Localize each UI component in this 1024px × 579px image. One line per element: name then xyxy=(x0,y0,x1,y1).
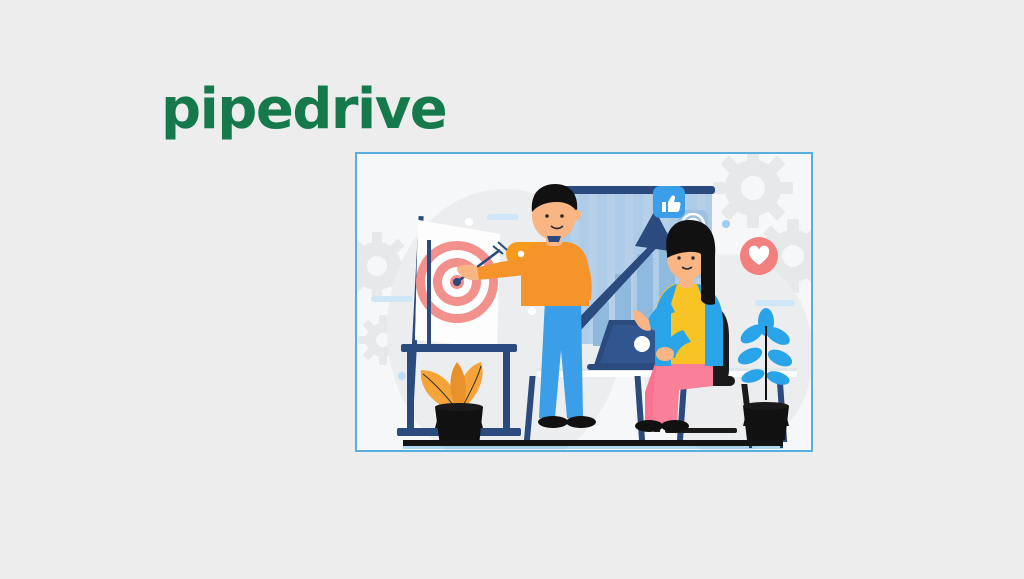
floor-line xyxy=(403,440,783,446)
floor-shadow xyxy=(403,446,783,449)
illustration-frame xyxy=(355,152,813,452)
pipedrive-logo[interactable]: pipedrive xyxy=(161,82,411,138)
business-team-illustration xyxy=(357,154,811,450)
pipedrive-wordmark: pipedrive xyxy=(161,82,446,138)
heart-badge-icon[interactable] xyxy=(740,237,778,275)
page-root: pipedrive xyxy=(0,0,1024,579)
thumbs-up-badge-icon[interactable] xyxy=(653,186,685,218)
